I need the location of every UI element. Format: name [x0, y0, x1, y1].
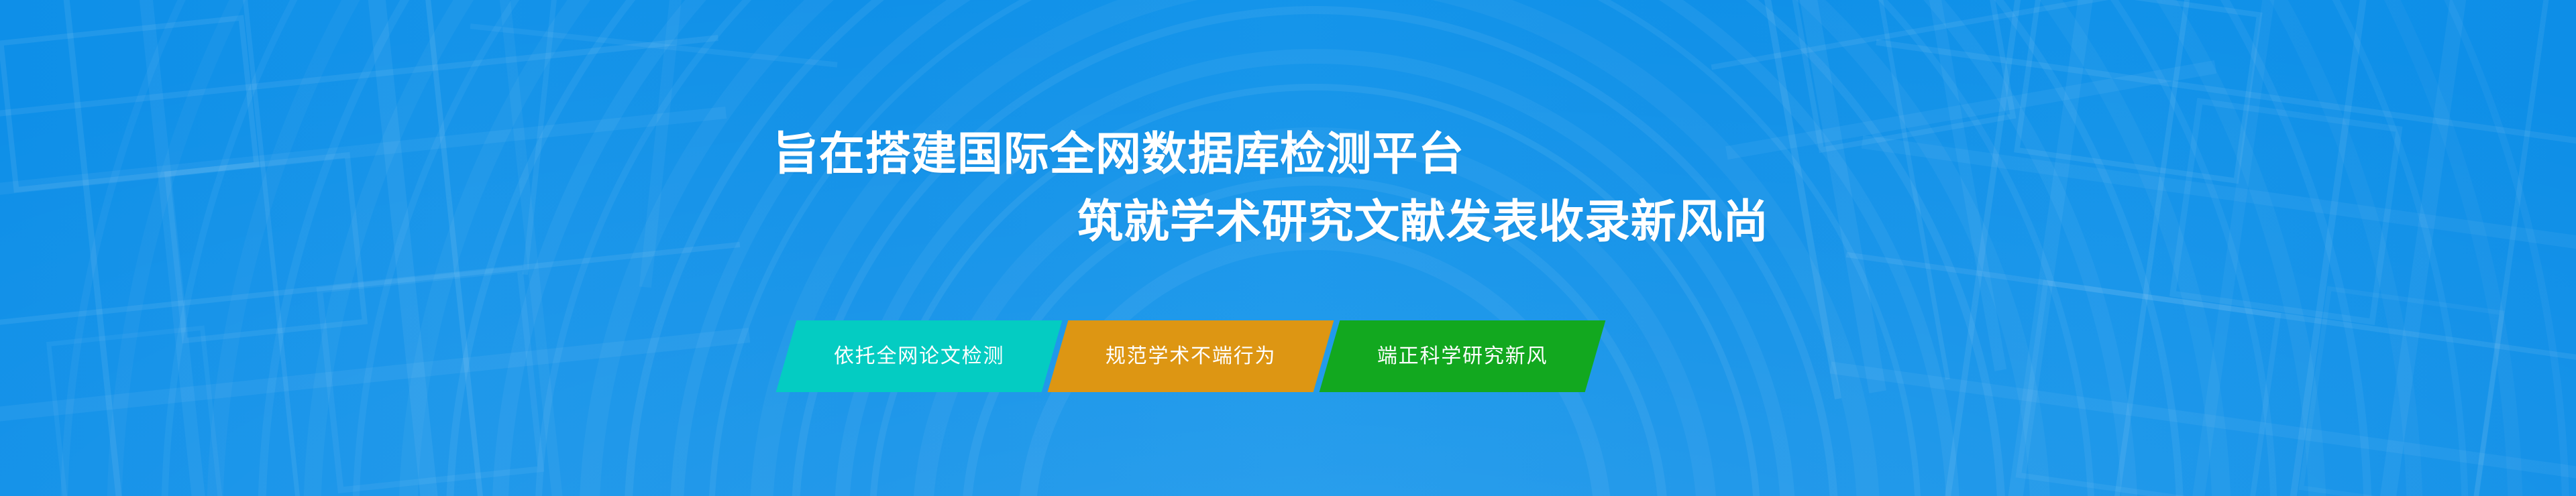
- tag-research-ethos[interactable]: 端正科学研究新风: [1320, 320, 1606, 392]
- background-wash: [0, 0, 2576, 496]
- feature-tag-strip: 依托全网论文检测 规范学术不端行为 端正科学研究新风: [0, 320, 2576, 392]
- promo-banner: 旨在搭建国际全网数据库检测平台 筑就学术研究文献发表收录新风尚 依托全网论文检测…: [0, 0, 2576, 496]
- tag-label: 依托全网论文检测: [834, 347, 1004, 367]
- tag-full-network-detection[interactable]: 依托全网论文检测: [776, 320, 1063, 392]
- headline-block: 旨在搭建国际全网数据库检测平台 筑就学术研究文献发表收录新风尚: [0, 131, 2576, 245]
- tag-label: 端正科学研究新风: [1377, 347, 1548, 367]
- headline-line-1: 旨在搭建国际全网数据库检测平台: [0, 131, 2576, 177]
- tag-label: 规范学术不端行为: [1106, 347, 1276, 367]
- tag-academic-misconduct[interactable]: 规范学术不端行为: [1048, 320, 1334, 392]
- headline-line-2: 筑就学术研究文献发表收录新风尚: [0, 199, 2576, 245]
